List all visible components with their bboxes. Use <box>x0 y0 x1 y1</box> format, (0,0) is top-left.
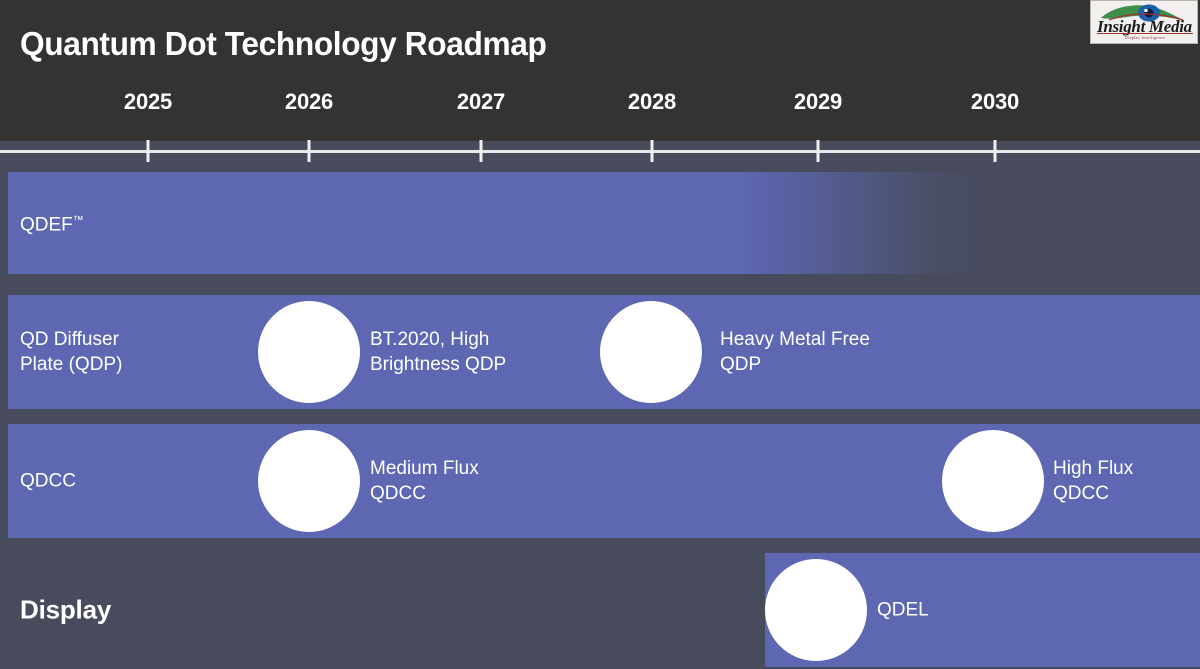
roadmap-row-qdcc: QDCCMedium Flux QDCCHigh Flux QDCC <box>0 424 1200 538</box>
year-tick-2025 <box>147 140 150 162</box>
milestone-marker-qdcc-1[interactable] <box>942 430 1044 532</box>
year-label-2025: 2025 <box>124 89 172 115</box>
milestone-label-display-0: QDEL <box>877 598 929 623</box>
roadmap-row-display: DisplayQDEL <box>0 553 1200 667</box>
year-label-2028: 2028 <box>628 89 676 115</box>
milestone-marker-display-0[interactable] <box>765 559 867 661</box>
chart-header: Quantum Dot Technology Roadmap Insight M… <box>0 0 1200 141</box>
milestone-marker-qdp-1[interactable] <box>600 301 702 403</box>
page-title: Quantum Dot Technology Roadmap <box>20 25 546 63</box>
year-tick-2030 <box>994 140 997 162</box>
year-label-2030: 2030 <box>971 89 1019 115</box>
row-label-qdcc: QDCC <box>20 469 76 494</box>
year-tick-2026 <box>308 140 311 162</box>
roadmap-chart: Quantum Dot Technology Roadmap Insight M… <box>0 0 1200 669</box>
milestone-label-qdcc-1: High Flux QDCC <box>1053 456 1133 506</box>
row-label-qdp: QD Diffuser Plate (QDP) <box>20 327 122 377</box>
track-bar-qdef <box>8 172 1000 274</box>
roadmap-row-qdef: QDEF™ <box>0 172 1200 274</box>
logo-divider <box>1097 33 1193 34</box>
milestone-marker-qdp-0[interactable] <box>258 301 360 403</box>
trademark-symbol-qdef: ™ <box>73 214 84 226</box>
logo-tagline: Display Intelligence <box>1125 35 1165 40</box>
milestone-marker-qdcc-0[interactable] <box>258 430 360 532</box>
insight-media-logo: Insight Media Display Intelligence <box>1090 0 1198 44</box>
year-tick-2028 <box>651 140 654 162</box>
year-tick-2027 <box>480 140 483 162</box>
year-label-2026: 2026 <box>285 89 333 115</box>
timeline-axis <box>0 150 1200 153</box>
roadmap-row-qdp: QD Diffuser Plate (QDP)BT.2020, High Bri… <box>0 295 1200 409</box>
milestone-label-qdp-0: BT.2020, High Brightness QDP <box>370 327 506 377</box>
year-label-2027: 2027 <box>457 89 505 115</box>
row-label-display: Display <box>20 598 111 623</box>
year-tick-2029 <box>817 140 820 162</box>
row-label-qdef: QDEF™ <box>20 208 84 237</box>
milestone-label-qdcc-0: Medium Flux QDCC <box>370 456 479 506</box>
year-label-2029: 2029 <box>794 89 842 115</box>
milestone-label-qdp-1: Heavy Metal Free QDP <box>720 327 870 377</box>
